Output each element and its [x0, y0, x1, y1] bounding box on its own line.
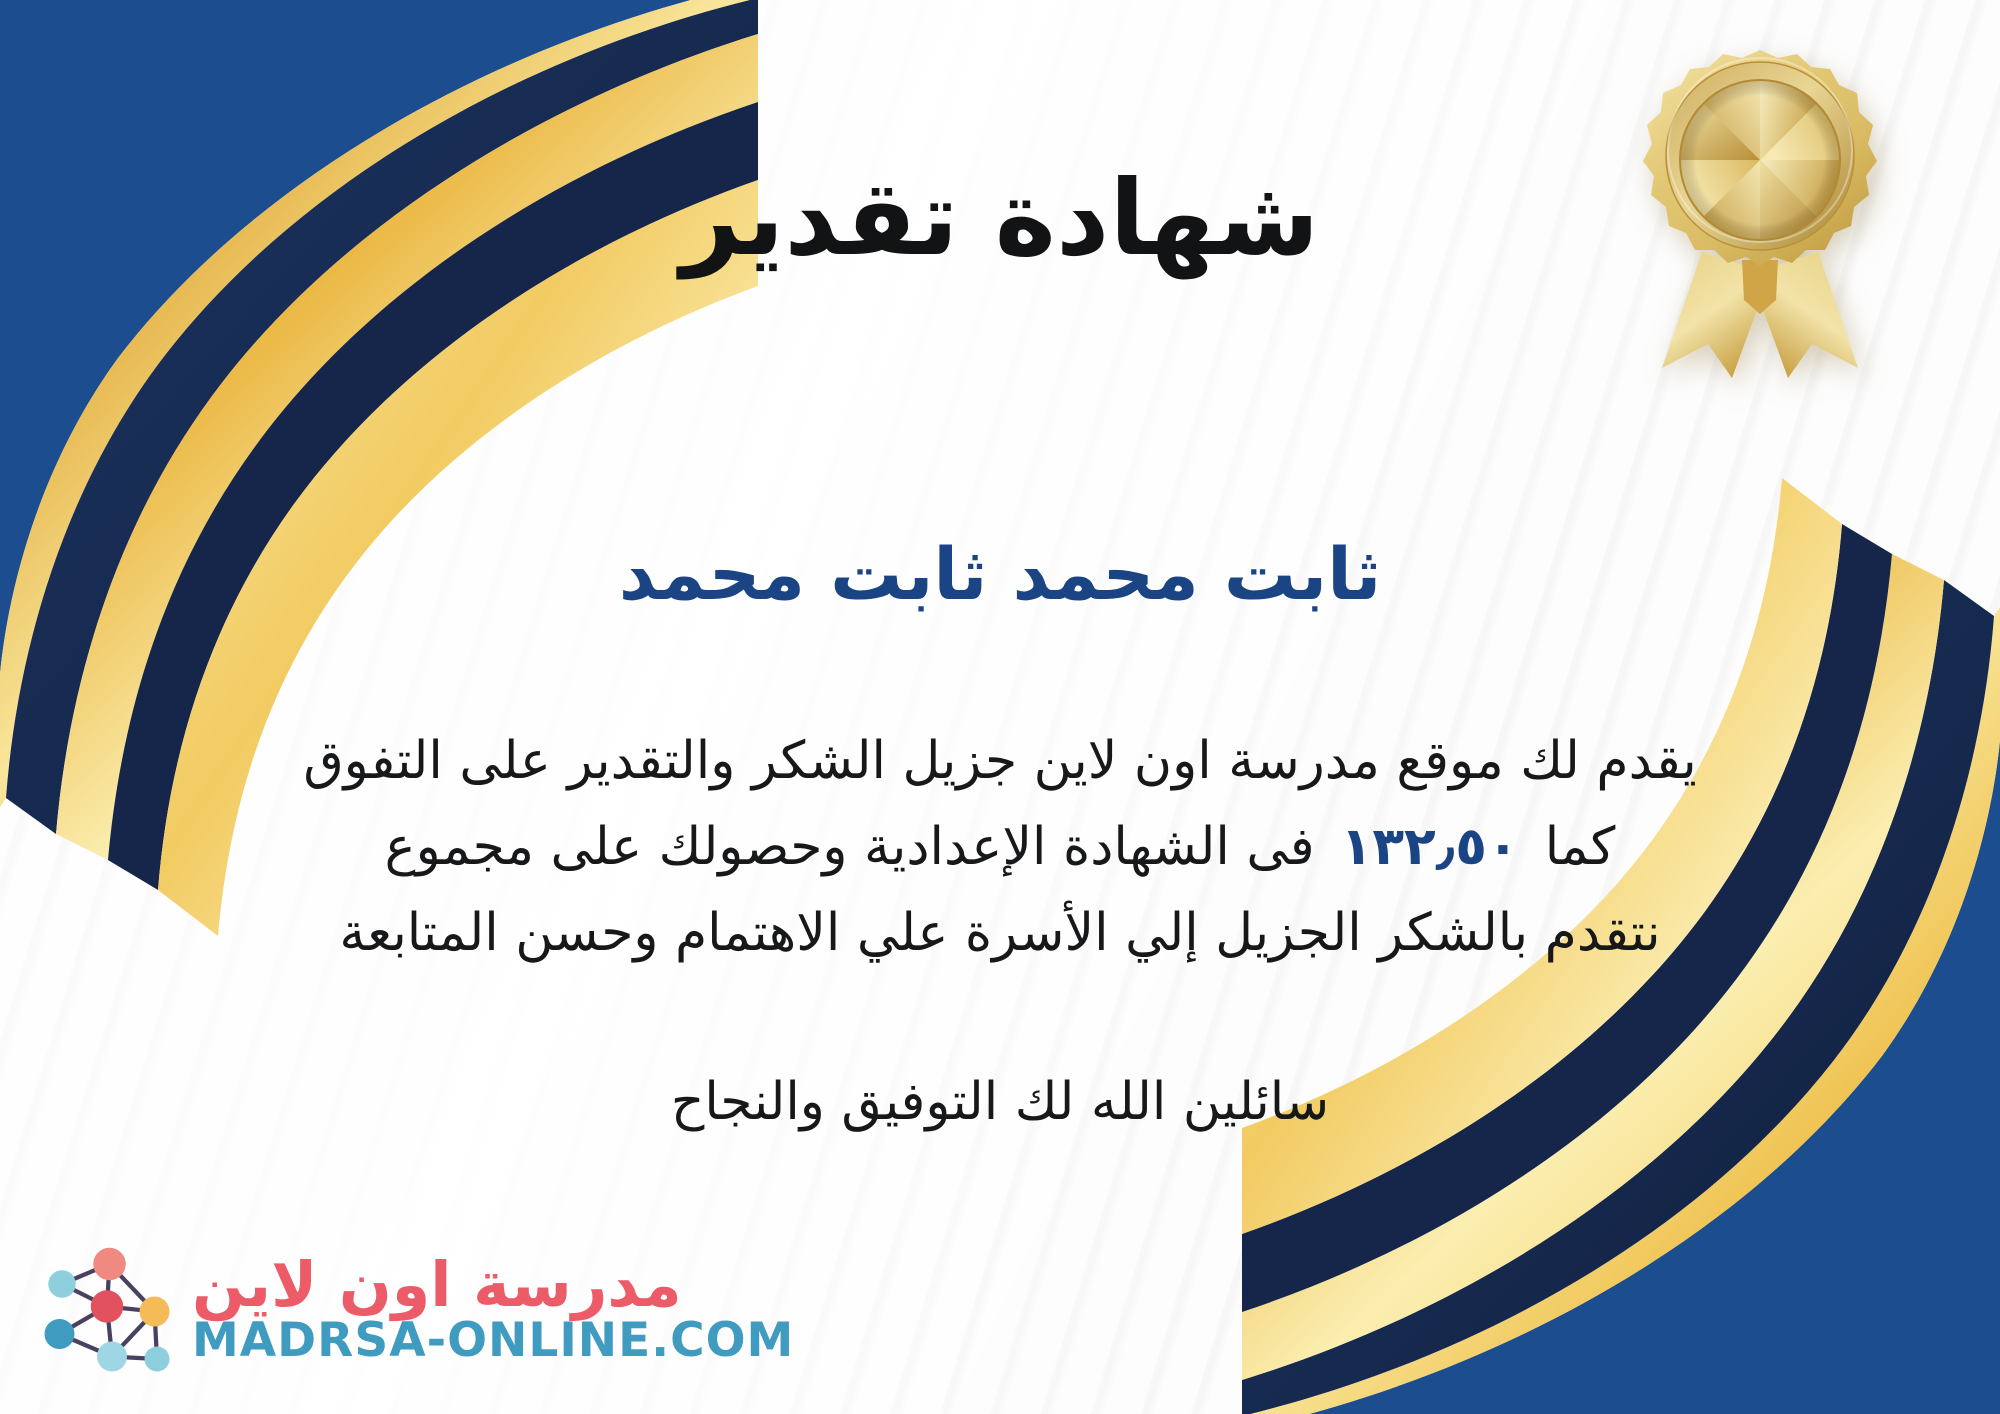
- seal-inner-disc: [1680, 80, 1840, 240]
- body-line-1: يقدم لك موقع مدرسة اون لاين جزيل الشكر و…: [85, 718, 1915, 804]
- brand-text-block: مدرسة اون لاين MADRSA-ONLINE.COM: [192, 1253, 794, 1366]
- award-seal: [1610, 38, 1910, 378]
- recipient-name: ثابت محمد ثابت محمد: [619, 531, 1382, 617]
- brand-website-url[interactable]: MADRSA-ONLINE.COM: [192, 1316, 794, 1365]
- total-score-value: ١٣٢٫٥٠: [1315, 817, 1545, 877]
- gold-award-rosette-icon: [1610, 38, 1910, 378]
- body-line-2-prefix: فى الشهادة الإعدادية وحصولك على مجموع: [385, 817, 1315, 877]
- certificate-title: شهادة تقدير: [681, 160, 1320, 276]
- body-line-2-suffix: كما: [1545, 817, 1616, 877]
- network-nodes-icon: [32, 1234, 182, 1384]
- body-line-2: كما١٣٢٫٥٠فى الشهادة الإعدادية وحصولك على…: [85, 804, 1915, 890]
- brand-logo[interactable]: مدرسة اون لاين MADRSA-ONLINE.COM: [32, 1234, 794, 1384]
- brand-arabic-name: مدرسة اون لاين: [192, 1253, 682, 1316]
- closing-line: سائلين الله لك التوفيق والنجاح: [671, 1063, 1329, 1141]
- certificate-canvas: شهادة تقدير ثابت محمد ثابت محمد يقدم لك …: [0, 0, 2000, 1414]
- body-line-3: نتقدم بالشكر الجزيل إلي الأسرة علي الاهت…: [85, 890, 1915, 976]
- certificate-body: يقدم لك موقع مدرسة اون لاين جزيل الشكر و…: [85, 718, 1915, 977]
